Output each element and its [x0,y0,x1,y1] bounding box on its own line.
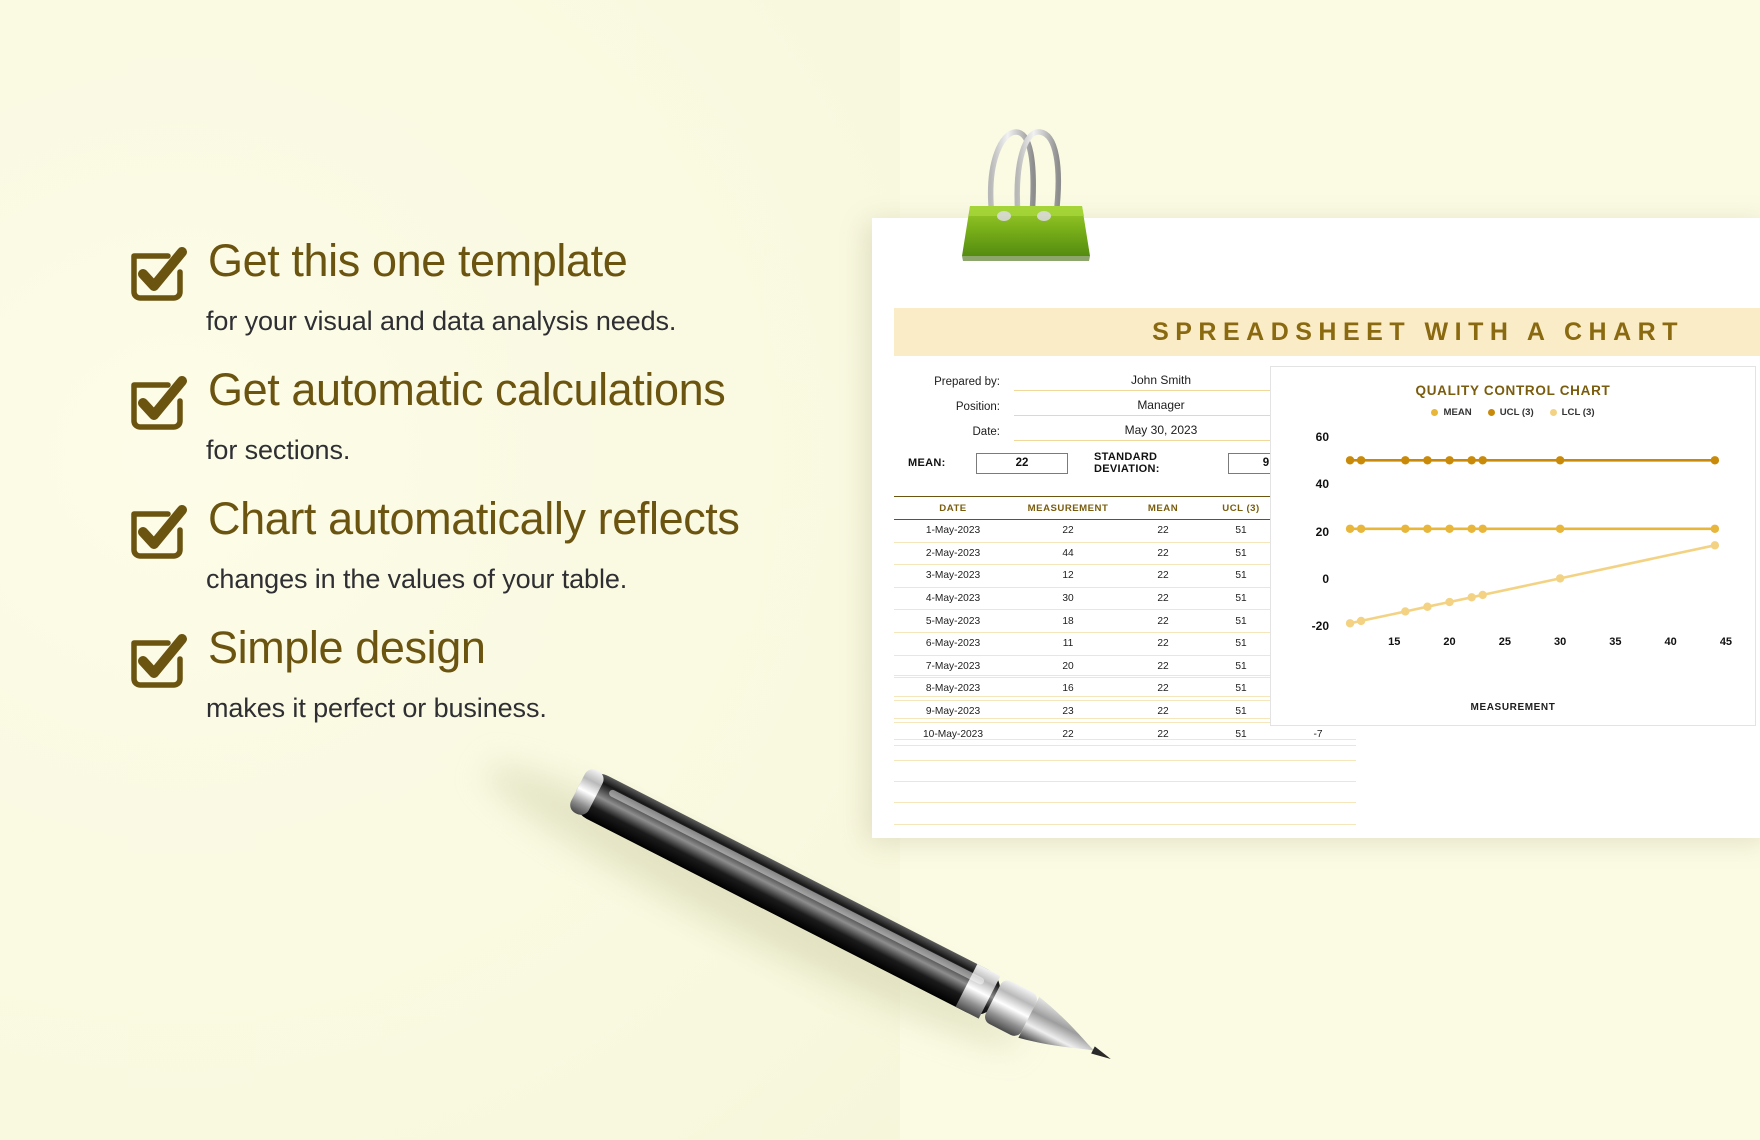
y-axis-tick-label: 60 [1295,430,1329,444]
legend-label-lcl: LCL (3) [1562,407,1595,418]
chart-data-point [1479,456,1487,464]
feature-title: Chart automatically reflects [208,496,740,543]
empty-table-row[interactable] [894,782,1356,803]
standard-deviation-label: STANDARD DEVIATION: [1094,451,1222,475]
table-cell: 12 [1012,565,1124,588]
chart-data-point [1346,619,1354,627]
table-cell: 22 [1124,587,1202,610]
chart-plot-area: -20020406015202530354045 [1271,425,1757,670]
mean-label: MEAN: [908,457,968,469]
chart-data-point [1445,456,1453,464]
mean-value-field[interactable]: 22 [976,453,1068,474]
chart-data-point [1445,598,1453,606]
form-row-prepared-by: Prepared by: John Smith [908,366,1308,391]
table-cell: 22 [1124,520,1202,543]
table-cell: 22 [1124,542,1202,565]
feature-list: Get this one template for your visual an… [128,238,918,746]
x-axis-tick-label: 25 [1488,636,1522,648]
feature-title: Get automatic calculations [208,367,725,414]
form-value-prepared-by[interactable]: John Smith [1014,373,1308,391]
table-cell: 22 [1012,520,1124,543]
legend-item-lcl[interactable]: LCL (3) [1550,407,1595,418]
form-row-position: Position: Manager [908,391,1308,416]
empty-table-row[interactable] [894,740,1356,761]
empty-table-row[interactable] [894,761,1356,782]
x-axis-tick-label: 30 [1543,636,1577,648]
chart-title: QUALITY CONTROL CHART [1271,383,1755,398]
chart-data-point [1467,593,1475,601]
chart-x-axis-label: MEASUREMENT [1271,702,1755,713]
y-axis-tick-label: 20 [1295,525,1329,539]
form-label: Prepared by: [908,376,1000,391]
feature-item-2: Get automatic calculations for sections. [128,367,918,466]
chart-legend: MEAN UCL (3) LCL (3) [1271,407,1755,418]
poster-canvas: Get this one template for your visual an… [0,0,1760,1140]
x-axis-tick-label: 40 [1654,636,1688,648]
chart-data-point [1711,525,1719,533]
feature-subtitle: for sections. [206,435,918,466]
table-cell: 4-May-2023 [894,587,1012,610]
table-cell: 2-May-2023 [894,542,1012,565]
legend-label-ucl: UCL (3) [1500,407,1534,418]
table-cell: 18 [1012,610,1124,633]
table-cell: 22 [1124,565,1202,588]
chart-data-point [1357,456,1365,464]
chart-data-point [1423,456,1431,464]
table-cell: 51 [1202,520,1280,543]
chart-data-point [1423,525,1431,533]
table-cell: 44 [1012,542,1124,565]
legend-swatch-lcl [1550,409,1557,416]
chart-data-point [1467,525,1475,533]
table-cell: 5-May-2023 [894,610,1012,633]
checkbox-checked-icon [128,244,190,302]
document-form: Prepared by: John Smith Position: Manage… [908,366,1308,441]
legend-item-ucl[interactable]: UCL (3) [1488,407,1534,418]
chart-data-point [1467,456,1475,464]
column-header-mean: MEAN [1124,497,1202,520]
column-header-ucl: UCL (3) [1202,497,1280,520]
empty-table-row[interactable] [894,803,1356,824]
y-axis-tick-label: 0 [1295,572,1329,586]
x-axis-tick-label: 35 [1598,636,1632,648]
chart-data-point [1401,525,1409,533]
table-cell: 6-May-2023 [894,632,1012,655]
chart-data-point [1401,607,1409,615]
checkbox-checked-icon [128,373,190,431]
feature-subtitle: for your visual and data analysis needs. [206,306,918,337]
legend-label-mean: MEAN [1443,407,1471,418]
y-axis-tick-label: -20 [1295,619,1329,633]
chart-svg [1271,425,1757,670]
table-cell: 11 [1012,632,1124,655]
chart-data-point [1556,525,1564,533]
chart-data-point [1556,574,1564,582]
form-label: Date: [908,426,1000,441]
feature-subtitle: changes in the values of your table. [206,564,918,595]
table-cell: 30 [1012,587,1124,610]
chart-data-point [1346,525,1354,533]
feature-item-4: Simple design makes it perfect or busine… [128,625,918,724]
chart-data-point [1357,617,1365,625]
spreadsheet-document: SPREADSHEET WITH A CHART Prepared by: Jo… [872,218,1760,838]
table-cell: 51 [1202,587,1280,610]
table-cell: 3-May-2023 [894,565,1012,588]
feature-title: Simple design [208,625,485,672]
feature-item-3: Chart automatically reflects changes in … [128,496,918,595]
form-row-date: Date: May 30, 2023 [908,416,1308,441]
chart-data-point [1711,456,1719,464]
feature-item-1: Get this one template for your visual an… [128,238,918,337]
table-cell: 1-May-2023 [894,520,1012,543]
table-cell: 22 [1124,610,1202,633]
legend-swatch-ucl [1488,409,1495,416]
chart-data-point [1711,541,1719,549]
legend-swatch-mean [1431,409,1438,416]
form-value-date[interactable]: May 30, 2023 [1014,423,1308,441]
table-cell: 22 [1124,632,1202,655]
quality-control-chart: QUALITY CONTROL CHART MEAN UCL (3) LCL (… [1270,366,1756,726]
binder-clip-icon [940,120,1110,265]
chart-data-point [1357,525,1365,533]
chart-data-point [1401,456,1409,464]
document-title: SPREADSHEET WITH A CHART [894,308,1684,356]
table-cell: 51 [1202,542,1280,565]
y-axis-tick-label: 40 [1295,477,1329,491]
column-header-date: DATE [894,497,1012,520]
chart-data-point [1556,456,1564,464]
chart-data-point [1346,456,1354,464]
x-axis-tick-label: 20 [1433,636,1467,648]
checkbox-checked-icon [128,502,190,560]
table-cell: 51 [1202,610,1280,633]
chart-data-point [1423,603,1431,611]
checkbox-checked-icon [128,631,190,689]
table-cell: 51 [1202,565,1280,588]
legend-item-mean[interactable]: MEAN [1431,407,1471,418]
feature-subtitle: makes it perfect or business. [206,693,918,724]
form-label: Position: [908,401,1000,416]
column-header-measurement: MEASUREMENT [1012,497,1124,520]
chart-data-point [1479,525,1487,533]
x-axis-tick-label: 15 [1377,636,1411,648]
feature-title: Get this one template [208,238,627,285]
chart-data-point [1445,525,1453,533]
form-value-position[interactable]: Manager [1014,398,1308,416]
x-axis-tick-label: 45 [1709,636,1743,648]
table-cell: 51 [1202,632,1280,655]
chart-data-point [1479,591,1487,599]
